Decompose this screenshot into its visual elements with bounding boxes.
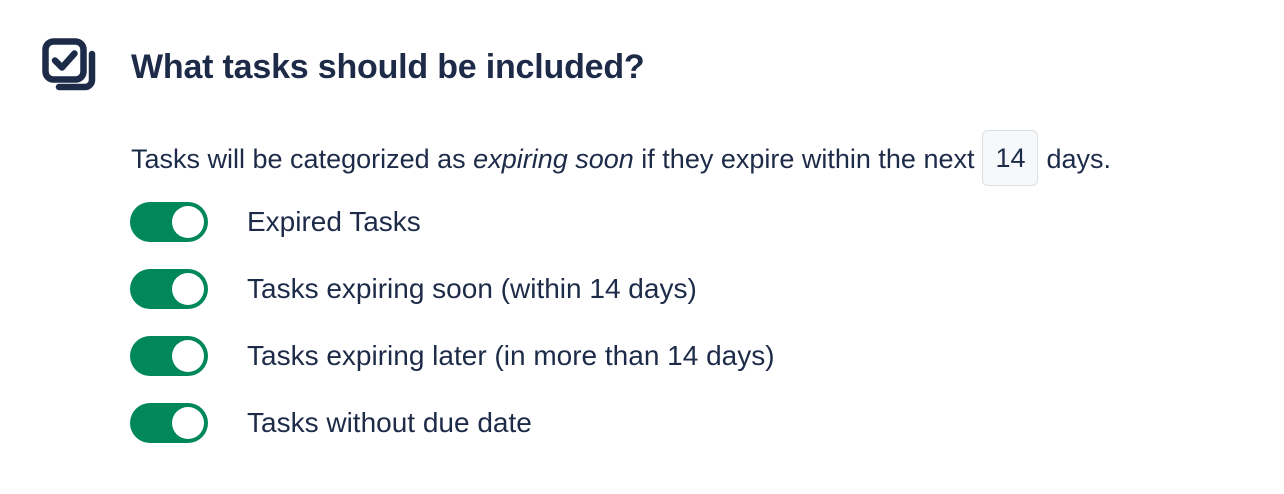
description-line: Tasks will be categorized as expiring so… bbox=[131, 131, 1111, 187]
toggle-row-tasks-expiring-later: Tasks expiring later (in more than 14 da… bbox=[130, 335, 775, 377]
description-prefix: Tasks will be categorized as bbox=[131, 139, 466, 179]
description-middle: if they expire within the next bbox=[641, 139, 974, 179]
description-suffix: days. bbox=[1046, 139, 1111, 179]
toggle-label-tasks-expiring-soon[interactable]: Tasks expiring soon (within 14 days) bbox=[247, 272, 697, 306]
task-type-toggle-list: Expired Tasks Tasks expiring soon (withi… bbox=[130, 201, 775, 444]
section-header: What tasks should be included? bbox=[42, 38, 645, 98]
expiring-soon-days-input[interactable] bbox=[982, 130, 1038, 186]
task-checkbox-icon bbox=[42, 38, 102, 98]
toggle-tasks-expiring-later[interactable] bbox=[130, 336, 208, 376]
toggle-tasks-without-due-date[interactable] bbox=[130, 403, 208, 443]
toggle-label-tasks-without-due-date[interactable]: Tasks without due date bbox=[247, 406, 532, 440]
toggle-label-expired-tasks[interactable]: Expired Tasks bbox=[247, 205, 421, 239]
toggle-knob bbox=[172, 407, 204, 439]
toggle-knob bbox=[172, 273, 204, 305]
toggle-row-tasks-without-due-date: Tasks without due date bbox=[130, 402, 775, 444]
toggle-row-tasks-expiring-soon: Tasks expiring soon (within 14 days) bbox=[130, 268, 775, 310]
toggle-knob bbox=[172, 340, 204, 372]
page-title: What tasks should be included? bbox=[131, 45, 645, 89]
toggle-tasks-expiring-soon[interactable] bbox=[130, 269, 208, 309]
toggle-knob bbox=[172, 206, 204, 238]
description-emphasis: expiring soon bbox=[473, 139, 634, 179]
task-inclusion-settings-panel: What tasks should be included? Tasks wil… bbox=[0, 0, 1284, 494]
toggle-label-tasks-expiring-later[interactable]: Tasks expiring later (in more than 14 da… bbox=[247, 339, 775, 373]
toggle-expired-tasks[interactable] bbox=[130, 202, 208, 242]
toggle-row-expired-tasks: Expired Tasks bbox=[130, 201, 775, 243]
